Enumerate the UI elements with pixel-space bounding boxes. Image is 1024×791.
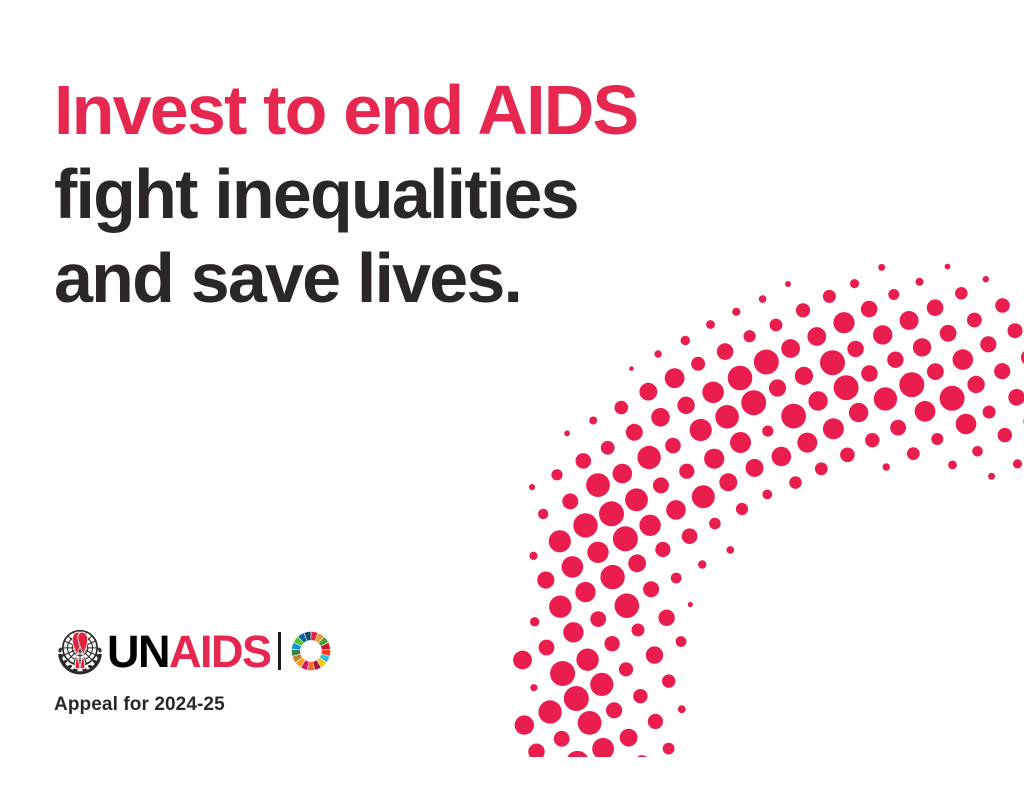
headline-line-1: Invest to end AIDS [54, 68, 774, 152]
poster-canvas: Invest to end AIDS fight inequalities an… [0, 0, 1024, 791]
unaids-wordmark: UNAIDS [107, 629, 271, 674]
headline-line-3: and save lives. [54, 236, 774, 320]
appeal-subtitle: Appeal for 2024-25 [54, 694, 225, 716]
headline-line-2: fight inequalities [54, 152, 774, 236]
sdg-colour-wheel-icon [290, 630, 332, 672]
un-emblem-with-red-ribbon-icon [54, 625, 106, 677]
page-headline: Invest to end AIDS fight inequalities an… [54, 68, 774, 320]
logo-divider [278, 632, 281, 670]
wordmark-un: UN [107, 626, 169, 677]
unaids-logo-lockup: UNAIDS [54, 625, 332, 677]
wordmark-aids: AIDS [169, 626, 271, 677]
